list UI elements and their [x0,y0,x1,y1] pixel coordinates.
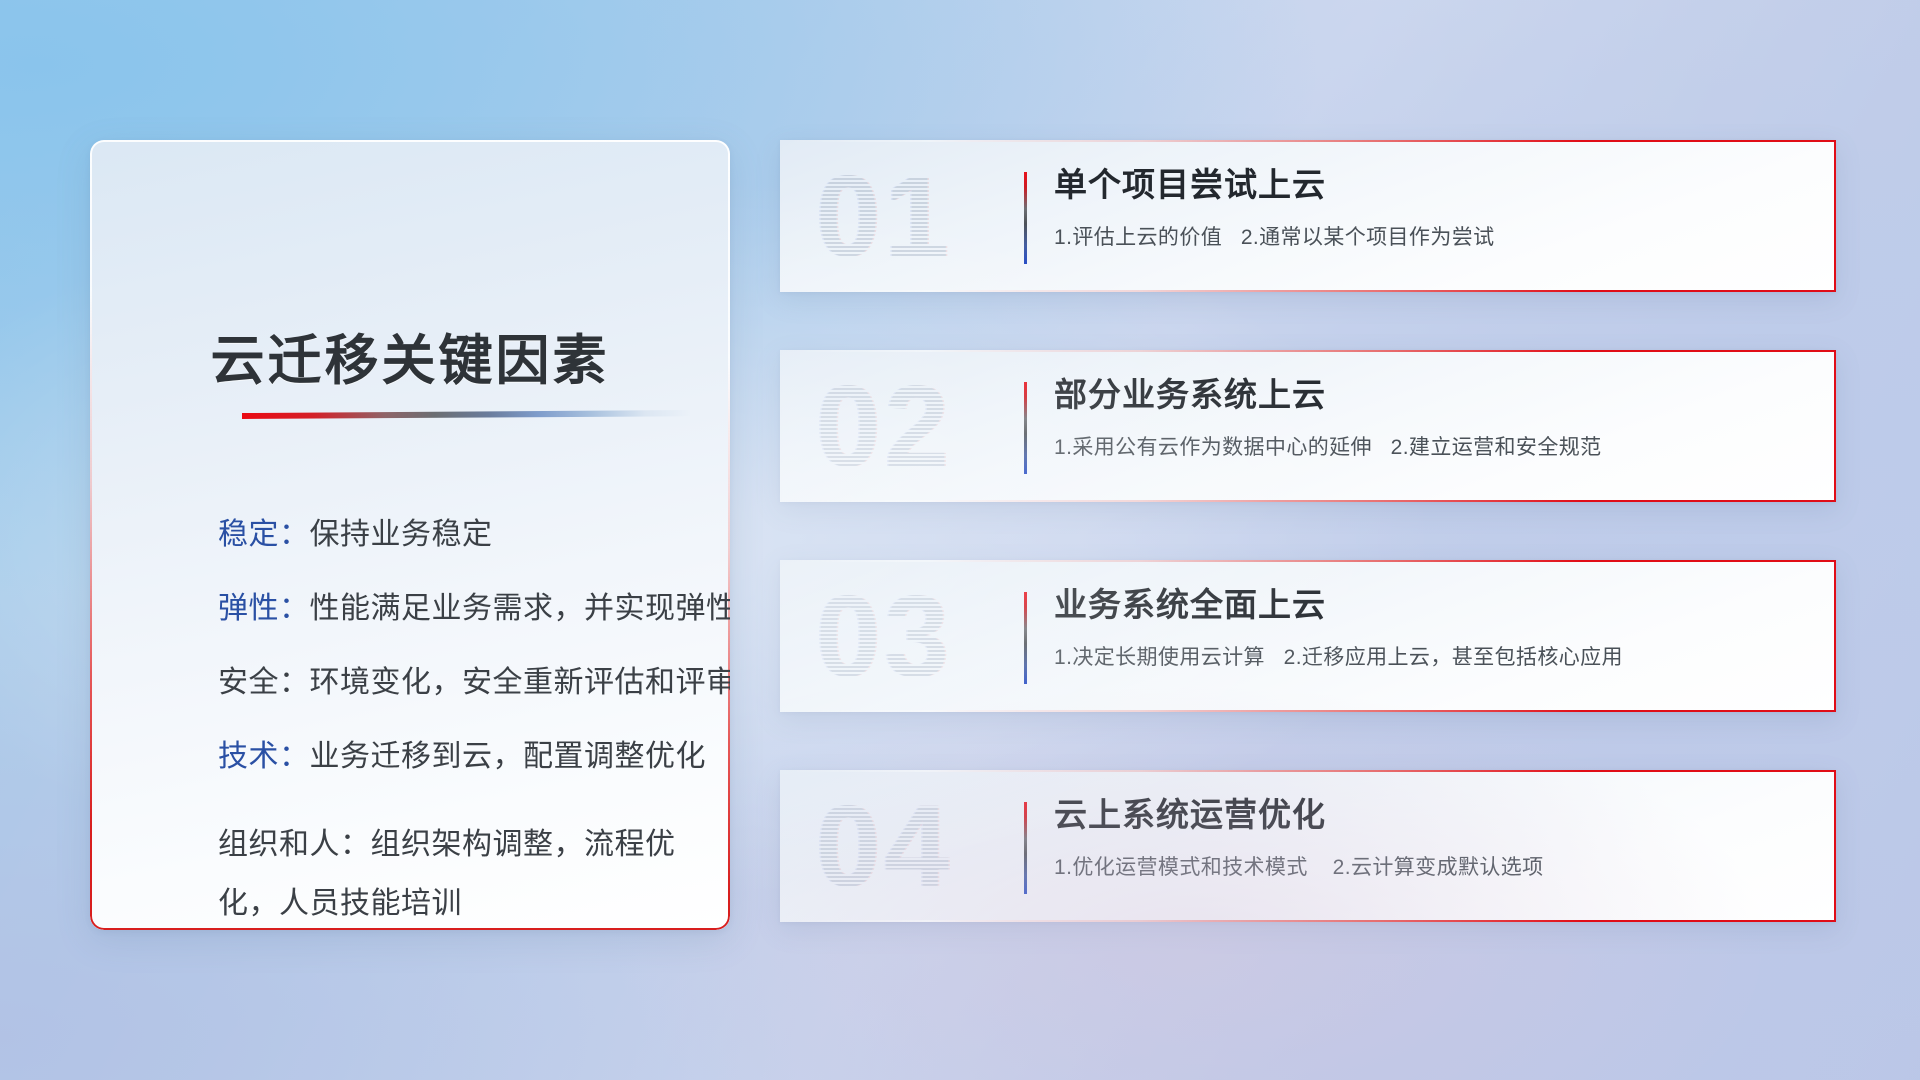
factor-key: 弹性： [218,592,310,625]
stage-card-body: 部分业务系统上云 1.采用公有云作为数据中心的延伸 2.建立运营和安全规范 [1054,374,1802,461]
list-item: 弹性：性能满足业务需求，并实现弹性 [218,594,684,624]
stage-card-body: 业务系统全面上云 1.决定长期使用云计算 2.迁移应用上云，甚至包括核心应用 [1054,584,1802,671]
stage-card-title: 云上系统运营优化 [1054,794,1802,835]
list-item: 安全：环境变化，安全重新评估和评审 [218,668,684,698]
factor-key: 安全： [218,666,310,699]
accent-divider-bar [1024,172,1027,264]
stage-number-watermark: 01 [816,150,1006,282]
stage-card[interactable]: 03 业务系统全面上云 1.决定长期使用云计算 2.迁移应用上云，甚至包括核心应… [780,560,1836,712]
factor-value: 保持业务稳定 [310,518,493,551]
stage-card-body: 单个项目尝试上云 1.评估上云的价值 2.通常以某个项目作为尝试 [1054,164,1802,251]
factor-key: 稳定： [218,518,310,551]
accent-divider-bar [1024,382,1027,474]
list-item: 稳定：保持业务稳定 [218,520,684,550]
factor-key: 组织和人： [218,828,371,861]
stage-card[interactable]: 01 单个项目尝试上云 1.评估上云的价值 2.通常以某个项目作为尝试 [780,140,1836,292]
slide-canvas: 云迁移关键因素 稳定：保持业务稳定 弹性：性能满足业务需求，并实现弹性 安全：环… [0,0,1920,1080]
stage-card-subtitle: 1.评估上云的价值 2.通常以某个项目作为尝试 [1054,221,1802,251]
stage-card[interactable]: 02 部分业务系统上云 1.采用公有云作为数据中心的延伸 2.建立运营和安全规范 [780,350,1836,502]
stage-card-subtitle: 1.决定长期使用云计算 2.迁移应用上云，甚至包括核心应用 [1054,641,1802,671]
stage-card-title: 部分业务系统上云 [1054,374,1802,415]
key-factors-list: 稳定：保持业务稳定 弹性：性能满足业务需求，并实现弹性 安全：环境变化，安全重新… [218,520,684,930]
stage-number-watermark: 03 [816,570,1006,702]
factor-value: 环境变化，安全重新评估和评审 [310,666,731,699]
stage-card-body: 云上系统运营优化 1.优化运营模式和技术模式 2.云计算变成默认选项 [1054,794,1802,881]
stage-card[interactable]: 04 云上系统运营优化 1.优化运营模式和技术模式 2.云计算变成默认选项 [780,770,1836,922]
stage-card-subtitle: 1.优化运营模式和技术模式 2.云计算变成默认选项 [1054,851,1802,881]
stage-number-watermark: 04 [816,780,1006,912]
stage-number-watermark: 02 [816,360,1006,492]
stage-card-subtitle: 1.采用公有云作为数据中心的延伸 2.建立运营和安全规范 [1054,431,1802,461]
title-underline-rule [242,410,690,419]
list-item: 组织和人：组织架构调整，流程优化，人员技能培训 [218,816,684,930]
stage-card-title: 单个项目尝试上云 [1054,164,1802,205]
accent-divider-bar [1024,592,1027,684]
accent-divider-bar [1024,802,1027,894]
page-title: 云迁移关键因素 [90,316,730,395]
migration-stage-cards: 01 单个项目尝试上云 1.评估上云的价值 2.通常以某个项目作为尝试 02 部… [780,140,1836,922]
stage-card-title: 业务系统全面上云 [1054,584,1802,625]
key-factors-panel: 云迁移关键因素 稳定：保持业务稳定 弹性：性能满足业务需求，并实现弹性 安全：环… [90,140,730,930]
factor-key: 技术： [218,740,310,773]
factor-value: 性能满足业务需求，并实现弹性 [310,592,731,625]
list-item: 技术：业务迁移到云，配置调整优化 [218,742,684,772]
factor-value: 业务迁移到云，配置调整优化 [310,740,707,773]
